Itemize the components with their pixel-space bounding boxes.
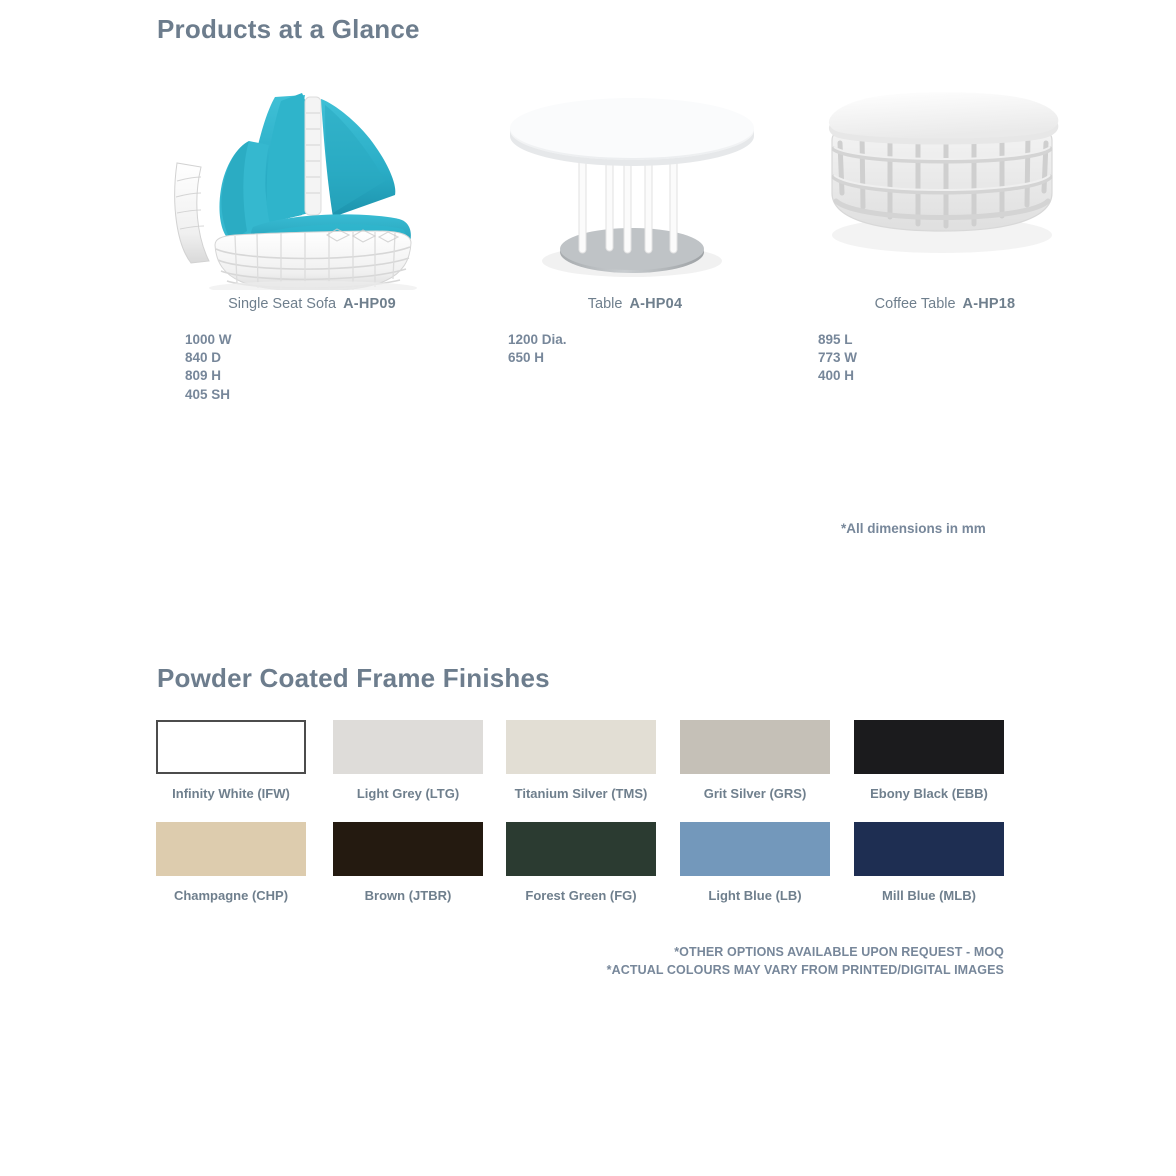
- dimension-value: 1000 W: [185, 331, 232, 349]
- swatch-brown[interactable]: Brown (JTBR): [333, 822, 483, 903]
- dimensions-note: *All dimensions in mm: [841, 521, 986, 536]
- swatch-row: Champagne (CHP) Brown (JTBR) Forest Gree…: [156, 822, 1014, 924]
- dimension-value: 400 H: [818, 367, 857, 385]
- finish-swatch-grid: Infinity White (IFW) Light Grey (LTG) Ti…: [156, 720, 1014, 924]
- swatch-titanium-silver[interactable]: Titanium Silver (TMS): [506, 720, 656, 801]
- footer-note-colours: *ACTUAL COLOURS MAY VARY FROM PRINTED/DI…: [0, 961, 1004, 979]
- swatch-color-chip: [854, 822, 1004, 876]
- swatch-light-blue[interactable]: Light Blue (LB): [680, 822, 830, 903]
- dimension-value: 773 W: [818, 349, 857, 367]
- swatch-forest-green[interactable]: Forest Green (FG): [506, 822, 656, 903]
- dimension-value: 405 SH: [185, 386, 232, 404]
- coffee-table-image: [790, 85, 1100, 290]
- swatch-color-chip: [506, 822, 656, 876]
- swatch-label: Forest Green (FG): [506, 888, 656, 903]
- product-caption: Single Seat SofaA-HP09: [157, 296, 467, 312]
- swatch-label: Grit Silver (GRS): [680, 786, 830, 801]
- product-name: Table: [588, 296, 623, 312]
- swatch-color-chip: [680, 822, 830, 876]
- dimension-value: 809 H: [185, 367, 232, 385]
- product-code: A-HP04: [629, 296, 682, 312]
- swatch-color-chip: [156, 822, 306, 876]
- swatch-color-chip: [506, 720, 656, 774]
- dimension-value: 895 L: [818, 331, 857, 349]
- product-card-table: TableA-HP04 1200 Dia. 650 H: [480, 85, 790, 415]
- swatch-color-chip: [333, 720, 483, 774]
- footer-note-options: *OTHER OPTIONS AVAILABLE UPON REQUEST - …: [0, 943, 1004, 961]
- dimension-value: 650 H: [508, 349, 567, 367]
- swatch-color-chip: [156, 720, 306, 774]
- product-card-coffee-table: Coffee TableA-HP18 895 L 773 W 400 H: [790, 85, 1100, 415]
- product-card-single-seat-sofa: Single Seat SofaA-HP09 1000 W 840 D 809 …: [157, 85, 467, 415]
- swatch-label: Ebony Black (EBB): [854, 786, 1004, 801]
- swatch-light-grey[interactable]: Light Grey (LTG): [333, 720, 483, 801]
- product-caption: Coffee TableA-HP18: [790, 296, 1100, 312]
- swatch-label: Light Grey (LTG): [333, 786, 483, 801]
- swatch-row: Infinity White (IFW) Light Grey (LTG) Ti…: [156, 720, 1014, 822]
- footer-notes: *OTHER OPTIONS AVAILABLE UPON REQUEST - …: [0, 943, 1004, 979]
- swatch-label: Champagne (CHP): [156, 888, 306, 903]
- product-name: Single Seat Sofa: [228, 296, 336, 312]
- swatch-label: Light Blue (LB): [680, 888, 830, 903]
- products-row: Single Seat SofaA-HP09 1000 W 840 D 809 …: [157, 85, 1027, 415]
- swatch-color-chip: [854, 720, 1004, 774]
- page-title-products: Products at a Glance: [157, 14, 420, 45]
- round-table-image: [480, 85, 790, 290]
- catalog-page: Products at a Glance: [0, 0, 1176, 1176]
- product-dimensions: 1000 W 840 D 809 H 405 SH: [185, 331, 232, 404]
- swatch-champagne[interactable]: Champagne (CHP): [156, 822, 306, 903]
- swatch-color-chip: [333, 822, 483, 876]
- product-caption: TableA-HP04: [480, 296, 790, 312]
- product-code: A-HP18: [963, 296, 1016, 312]
- product-dimensions: 895 L 773 W 400 H: [818, 331, 857, 386]
- product-name: Coffee Table: [875, 296, 956, 312]
- swatch-label: Titanium Silver (TMS): [506, 786, 656, 801]
- swatch-infinity-white[interactable]: Infinity White (IFW): [156, 720, 306, 801]
- swatch-label: Infinity White (IFW): [156, 786, 306, 801]
- dimension-value: 840 D: [185, 349, 232, 367]
- swatch-mill-blue[interactable]: Mill Blue (MLB): [854, 822, 1004, 903]
- page-title-finishes: Powder Coated Frame Finishes: [157, 663, 550, 694]
- product-dimensions: 1200 Dia. 650 H: [508, 331, 567, 367]
- product-code: A-HP09: [343, 296, 396, 312]
- swatch-label: Mill Blue (MLB): [854, 888, 1004, 903]
- swatch-color-chip: [680, 720, 830, 774]
- swatch-grit-silver[interactable]: Grit Silver (GRS): [680, 720, 830, 801]
- swatch-ebony-black[interactable]: Ebony Black (EBB): [854, 720, 1004, 801]
- swatch-label: Brown (JTBR): [333, 888, 483, 903]
- single-seat-sofa-image: [157, 85, 467, 290]
- dimension-value: 1200 Dia.: [508, 331, 567, 349]
